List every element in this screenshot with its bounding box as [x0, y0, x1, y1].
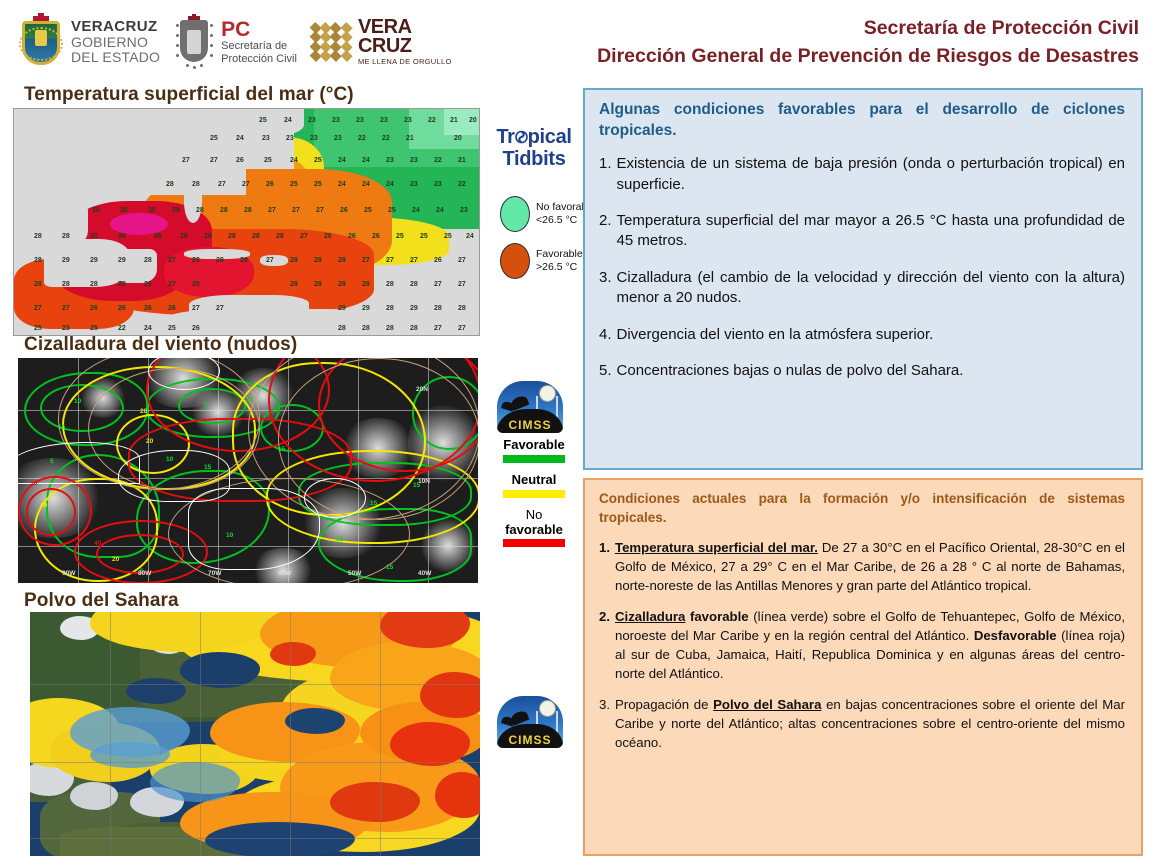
blue-item-3-num: 3.	[599, 268, 612, 309]
orange-item-2-lead: Cizalladura	[615, 609, 685, 624]
proteccion-civil-shield-icon	[174, 14, 214, 70]
sst-map: 2524 2323 2323 2322 2120 2524 2323 2323 …	[13, 108, 480, 336]
logo-proteccion-civil: PC Secretaría de Protección Civil	[174, 14, 297, 70]
blue-box-heading: Algunas condiciones favorables para el d…	[599, 100, 1125, 141]
veracruz-coat-of-arms-icon	[18, 13, 64, 71]
logo-vc-word1: VERA	[358, 18, 452, 36]
orange-list-item: 3. Propagación de Polvo del Sahara en ba…	[599, 696, 1125, 752]
orange-item-2-emph: Desfavorable	[974, 628, 1057, 643]
blue-item-3-text: Cizalladura (el cambio de la velocidad y…	[617, 268, 1125, 309]
orange-list-item: 1. Temperatura superficial del mar. De 2…	[599, 539, 1125, 595]
header-title-line1: Secretaría de Protección Civil	[597, 14, 1139, 42]
header-title-line2: Dirección General de Prevención de Riesg…	[597, 42, 1139, 70]
shear-legend-no-favorable: No favorable	[484, 508, 584, 550]
saharan-dust-map	[30, 612, 480, 856]
shear-legend-neutral: Neutral	[484, 473, 584, 501]
tt-line1-a: Tr	[496, 126, 514, 148]
sst-legend-no-favorable: No favorable <26.5 °C	[500, 196, 596, 232]
header-title: Secretaría de Protección Civil Dirección…	[597, 14, 1139, 71]
orange-item-3-lead: Polvo del Sahara	[713, 697, 821, 712]
sst-legend-favorable: Favorable >26.5 °C	[500, 243, 583, 279]
shear-swatch-no-favorable	[503, 539, 565, 547]
shear-legend-no-favorable-line2: favorable	[484, 523, 584, 538]
logo-pc-sub1: Secretaría de	[221, 40, 297, 53]
orange-item-3-num: 3.	[599, 696, 610, 752]
logo-veracruz-gobierno: VERACRUZ GOBIERNO DEL ESTADO	[18, 13, 160, 71]
grecas-pattern-icon	[311, 24, 351, 60]
shear-legend-neutral-label: Neutral	[484, 473, 584, 488]
logo-veracruz-orgullo: VERA CRUZ ME LLENA DE ORGULLO	[311, 18, 452, 66]
sst-legend-favorable-label: Favorable	[536, 248, 583, 261]
orange-item-1-lead: Temperatura superficial del mar.	[615, 540, 818, 555]
shear-swatch-neutral	[503, 490, 565, 498]
shear-legend-favorable: Favorable	[484, 438, 584, 466]
blue-list-item: 5. Concentraciones bajas o nulas de polv…	[599, 361, 1125, 381]
sst-swatch-no-favorable	[500, 196, 530, 232]
cimss-logo-label-2: CIMSS	[497, 733, 563, 747]
blue-list-item: 2. Temperatura superficial del mar mayor…	[599, 211, 1125, 252]
blue-item-4-text: Divergencia del viento en la atmósfera s…	[617, 325, 1125, 345]
orange-item-2-num: 2.	[599, 608, 610, 683]
logo-pc-abbr: PC	[221, 19, 297, 40]
current-conditions-panel: Condiciones actuales para la formación y…	[583, 478, 1143, 856]
tt-line2: Tidbits	[484, 148, 584, 170]
blue-item-4-num: 4.	[599, 325, 612, 345]
page-header: VERACRUZ GOBIERNO DEL ESTADO PC Secretar…	[0, 0, 1151, 82]
blue-item-5-num: 5.	[599, 361, 612, 381]
sst-map-title: Temperatura superficial del mar (°C)	[0, 84, 354, 107]
logo-veracruz-line2: GOBIERNO	[71, 35, 160, 50]
shear-legend-favorable-label: Favorable	[484, 438, 584, 453]
shear-map-title: Cizalladura del viento (nudos)	[0, 334, 297, 357]
blue-item-5-text: Concentraciones bajas o nulas de polvo d…	[617, 361, 1125, 381]
orange-item-2-lead2: favorable	[685, 609, 748, 624]
sst-swatch-favorable	[500, 243, 530, 279]
logo-veracruz-line3: DEL ESTADO	[71, 50, 160, 65]
logo-vc-word2: CRUZ	[358, 37, 452, 55]
blue-list-item: 3. Cizalladura (el cambio de la velocida…	[599, 268, 1125, 309]
logo-pc-sub2: Protección Civil	[221, 53, 297, 66]
tropical-tidbits-logo: Trpical Tidbits	[484, 126, 584, 171]
favorable-conditions-panel: Algunas condiciones favorables para el d…	[583, 88, 1143, 470]
blue-list-item: 4. Divergencia del viento en la atmósfer…	[599, 325, 1125, 345]
tt-line1-b: pical	[528, 126, 572, 148]
shear-swatch-favorable	[503, 455, 565, 463]
blue-list-item: 1. Existencia de un sistema de baja pres…	[599, 154, 1125, 195]
cimss-logo-label: CIMSS	[497, 418, 563, 432]
sst-legend-favorable-range: >26.5 °C	[536, 261, 583, 274]
orange-list-item: 2. Cizalladura favorable (línea verde) s…	[599, 608, 1125, 683]
logo-vc-tagline: ME LLENA DE ORGULLO	[358, 57, 452, 66]
orange-box-heading: Condiciones actuales para la formación y…	[599, 490, 1125, 527]
shear-legend-no-favorable-line1: No	[484, 508, 584, 523]
hurricane-swirl-icon	[515, 129, 528, 145]
logo-veracruz-line1: VERACRUZ	[71, 19, 160, 35]
logo-strip: VERACRUZ GOBIERNO DEL ESTADO PC Secretar…	[18, 8, 538, 76]
wind-shear-map: 10 15 5 20 20 10 15 5 15 15 30 40 40 20 …	[18, 358, 478, 583]
cimss-logo-dust: CIMSS	[497, 696, 563, 748]
dust-map-title: Polvo del Sahara	[0, 590, 179, 613]
blue-item-2-text: Temperatura superficial del mar mayor a …	[617, 211, 1125, 252]
orange-item-3-pre: Propagación de	[615, 697, 713, 712]
cimss-logo-shear: CIMSS	[497, 381, 563, 433]
blue-item-1-num: 1.	[599, 154, 612, 195]
blue-item-2-num: 2.	[599, 211, 612, 252]
orange-item-1-num: 1.	[599, 539, 610, 595]
blue-item-1-text: Existencia de un sistema de baja presión…	[617, 154, 1125, 195]
